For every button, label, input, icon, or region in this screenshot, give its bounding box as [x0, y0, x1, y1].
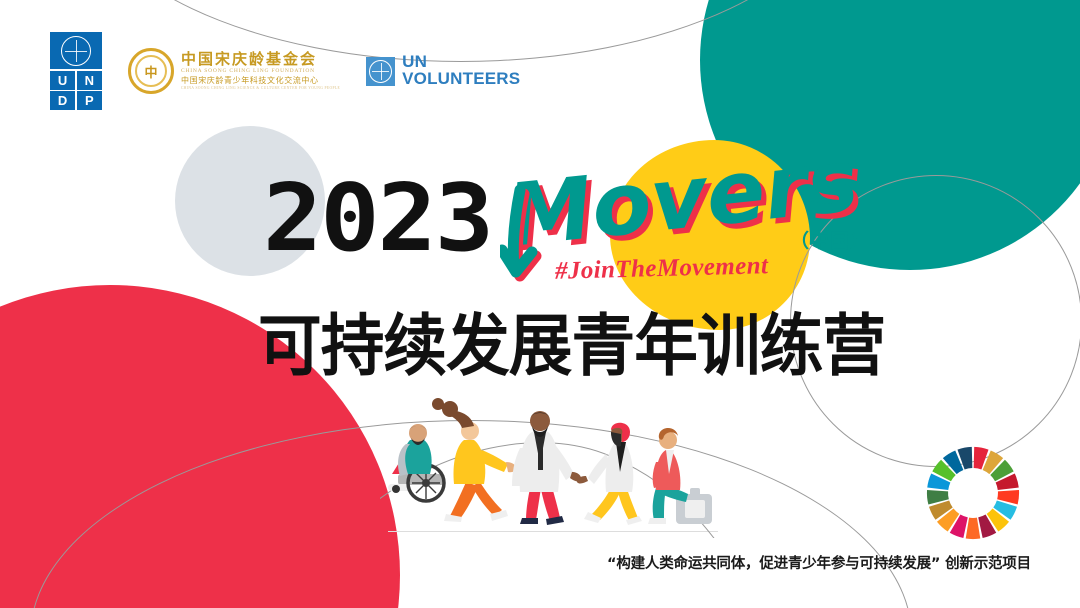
csclf-title-cn: 中国宋庆龄基金会 [181, 52, 340, 68]
sdg-segment-9 [966, 518, 981, 539]
unv-wordmark: UN VOLUNTEERS [402, 54, 520, 87]
chinese-title: 可持续发展青年训练营 [258, 292, 885, 389]
csclf-logo: 中 中国宋庆龄基金会 CHINA SOONG CHING LING FOUNDA… [128, 48, 340, 94]
poster-canvas: U N D P 中 中国宋庆龄基金会 CHINA SOONG CHING LIN… [0, 0, 1080, 608]
undp-emblem-panel [50, 32, 102, 69]
logo-row: U N D P 中 中国宋庆龄基金会 CHINA SOONG CHING LIN… [50, 32, 520, 110]
tagline-text: “构建人类命运共同体，促进青少年参与可持续发展” 创新示范项目 [607, 552, 1031, 573]
csclf-title-en: CHINA SOONG CHING LING FOUNDATION [181, 68, 340, 75]
figure-woman-yellow-jacket [432, 398, 516, 522]
undp-letter-u: U [50, 71, 75, 90]
figure-wheelchair-user [388, 424, 444, 501]
sdg-color-wheel-icon [925, 445, 1021, 541]
unv-line-2: VOLUNTEERS [402, 71, 520, 88]
csclf-seal-char: 中 [144, 62, 157, 81]
undp-letter-n: N [77, 71, 102, 90]
undp-letters: U N D P [50, 71, 102, 111]
undp-logo: U N D P [50, 32, 102, 110]
movers-region-label: （中国） [790, 226, 870, 253]
csclf-text: 中国宋庆龄基金会 CHINA SOONG CHING LING FOUNDATI… [181, 52, 340, 91]
people-illustration [380, 388, 720, 538]
un-volunteers-logo: UN VOLUNTEERS [366, 54, 520, 87]
figure-seated-person [648, 428, 712, 524]
figure-person-red-headscarf [577, 423, 642, 525]
un-globe-icon [61, 36, 91, 66]
hashtag-label: #JoinTheMovement [555, 252, 769, 286]
un-globe-icon [369, 60, 392, 83]
undp-letter-p: P [77, 91, 102, 110]
csclf-seal-icon: 中 [128, 48, 174, 94]
csclf-subtitle-cn: 中国宋庆龄青少年科技文化交流中心 [181, 76, 340, 86]
unv-emblem-panel [366, 57, 395, 86]
figure-man-white-coat [512, 411, 581, 525]
undp-letter-d: D [50, 91, 75, 110]
year-title: 2023 [263, 176, 492, 262]
csclf-subtitle-en: CHINA SOONG CHING LING SCIENCE & CULTURE… [181, 86, 340, 90]
movers-logotype: Movers Movers （中国） #JoinTheMovement [500, 150, 900, 290]
